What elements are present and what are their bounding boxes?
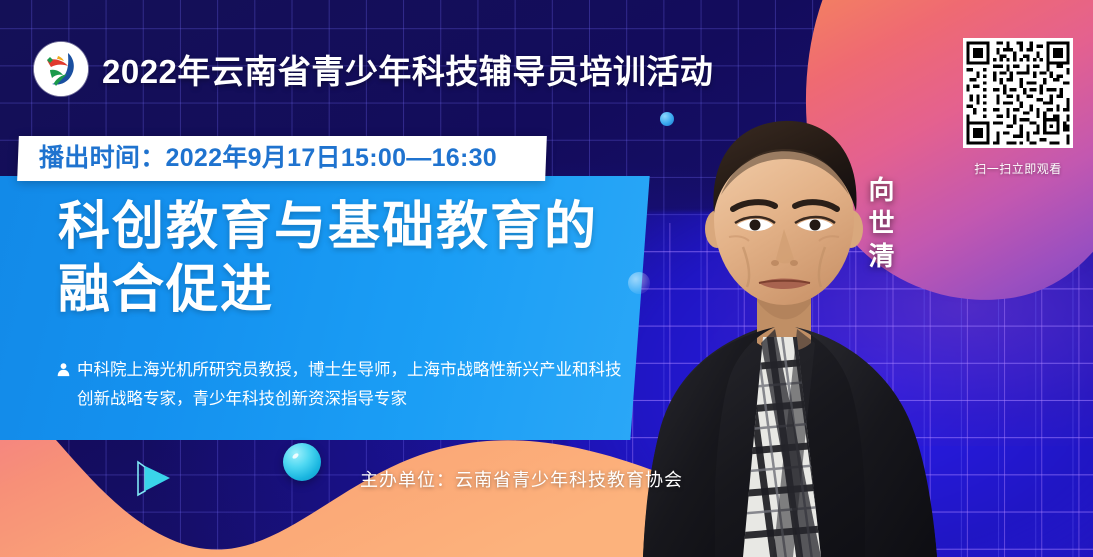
qr-section[interactable]: 扫一扫立即观看 xyxy=(963,38,1073,177)
organizer-text: 主办单位：云南省青少年科技教育协会 xyxy=(360,466,683,492)
page-title: 2022年云南省青少年科技辅导员培训活动 xyxy=(102,45,713,93)
bio-line-1: 中科院上海光机所研究员教授，博士生导师，上海市战略性新兴产业和科技 xyxy=(77,361,622,379)
bio-line-1-row: 中科院上海光机所研究员教授，博士生导师，上海市战略性新兴产业和科技 xyxy=(56,356,676,385)
broadcast-time-banner: 播出时间：2022年9月17日15:00—16:30 xyxy=(17,136,547,181)
person-icon xyxy=(56,362,71,377)
speaker-bio: 中科院上海光机所研究员教授，博士生导师，上海市战略性新兴产业和科技 创新战略专家… xyxy=(56,356,676,414)
qr-caption: 扫一扫立即观看 xyxy=(963,160,1073,177)
headline-line-2: 融合促进 xyxy=(58,259,598,322)
cyan-sphere-icon xyxy=(283,443,321,481)
blue-dot-icon xyxy=(660,112,674,126)
broadcast-time-text: 播出时间：2022年9月17日15:00—16:30 xyxy=(18,136,546,181)
bio-line-2: 创新战略专家，青少年科技创新资深指导专家 xyxy=(56,385,676,414)
speaker-name: 向世清 xyxy=(862,176,899,275)
qr-code-icon[interactable] xyxy=(963,38,1073,148)
headline-line-1: 科创教育与基础教育的 xyxy=(58,196,598,259)
promo-poster: 2022年云南省青少年科技辅导员培训活动 播出时间：2022年9月17日15:0… xyxy=(0,0,1093,557)
yasa-emblem-icon xyxy=(34,42,88,96)
poster-header: 2022年云南省青少年科技辅导员培训活动 xyxy=(34,42,713,96)
play-triangle-icon xyxy=(132,458,176,498)
headline-text: 科创教育与基础教育的 融合促进 xyxy=(58,196,598,323)
